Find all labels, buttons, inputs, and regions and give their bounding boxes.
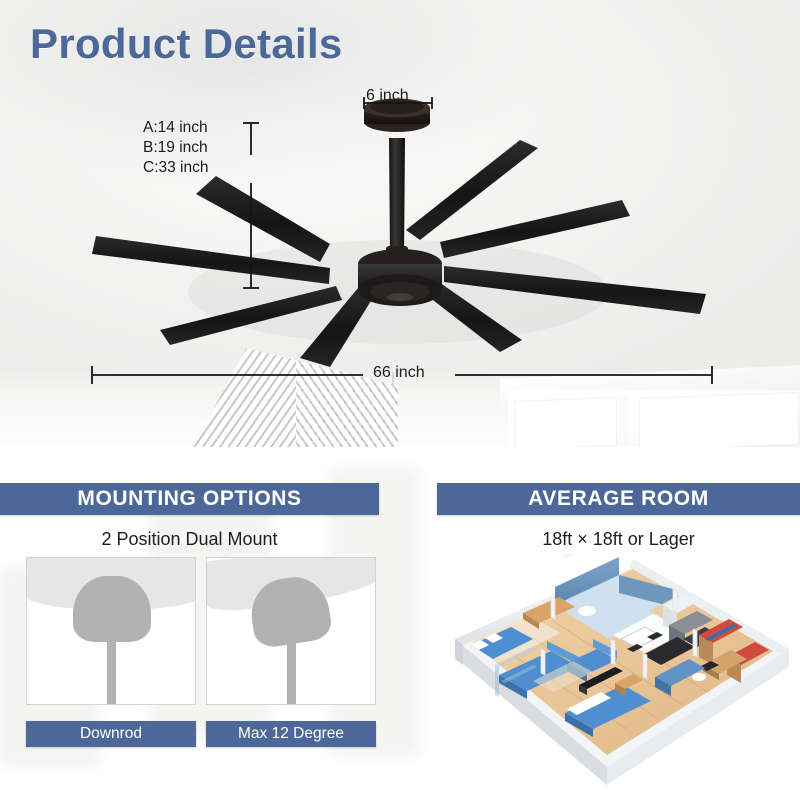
blade-span-b-label: B:19 inch bbox=[143, 138, 208, 158]
product-hero-photo: Product Details bbox=[0, 0, 800, 447]
details-lower-section: MOUNTING OPTIONS 2 Position Dual Mount D… bbox=[0, 447, 800, 800]
mounting-options-banner: MOUNTING OPTIONS bbox=[0, 483, 379, 515]
fan-diameter-label: 66 inch bbox=[373, 363, 425, 383]
blade-span-a-label: A:14 inch bbox=[143, 118, 208, 138]
mounting-options-subtitle: 2 Position Dual Mount bbox=[0, 529, 379, 550]
mount-diagram-angled bbox=[206, 557, 376, 705]
mount-caption-downrod: Downrod bbox=[26, 721, 196, 747]
room-floorplan-illustration bbox=[437, 553, 800, 788]
blade-span-c-label: C:33 inch bbox=[143, 158, 208, 178]
mount-caption-max-degree: Max 12 Degree bbox=[206, 721, 376, 747]
downrod bbox=[389, 138, 405, 256]
downrod-shape-tilted bbox=[287, 638, 296, 705]
fan-motor-shape bbox=[73, 576, 151, 642]
average-room-banner: AVERAGE ROOM bbox=[437, 483, 800, 515]
motor-housing bbox=[358, 249, 442, 306]
downrod-shape bbox=[107, 638, 116, 705]
canopy-width-label: 6 inch bbox=[366, 86, 409, 106]
blade-span-labels: A:14 inch B:19 inch C:33 inch bbox=[143, 118, 208, 178]
mount-diagram-downrod bbox=[26, 557, 196, 705]
average-room-subtitle: 18ft × 18ft or Lager bbox=[437, 529, 800, 550]
